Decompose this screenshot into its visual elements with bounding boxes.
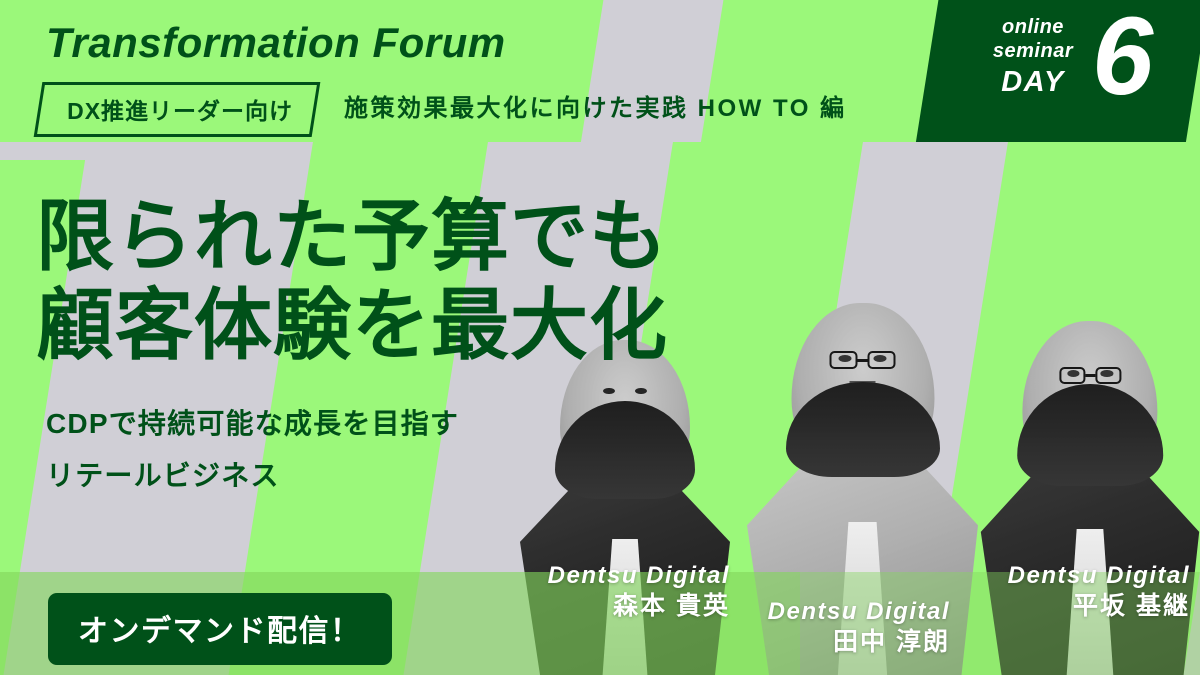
subheadline-line-1: CDPで持続可能な成長を目指す — [46, 398, 459, 450]
day-badge-content: online seminar DAY 6 — [932, 0, 1200, 142]
headline-line-2: 顧客体験を最大化 — [36, 281, 668, 370]
seminar-banner: Transformation Forum DX推進リーダー向け 施策効果最大化に… — [0, 0, 1200, 675]
speaker-name-1: 森本 貴英 — [460, 590, 730, 624]
badge-line-online: online — [974, 16, 1092, 40]
day-badge-lines: online seminar DAY — [974, 16, 1092, 99]
speaker-company-1: Dentsu Digital — [460, 562, 730, 590]
ondemand-button[interactable]: オンデマンド配信！ — [48, 593, 392, 665]
speaker-caption-2: Dentsu Digital 田中 淳朗 — [700, 598, 950, 660]
speaker-caption-1: Dentsu Digital 森本 貴英 — [460, 562, 730, 624]
badge-line-day: DAY — [974, 65, 1092, 99]
page-title: Transformation Forum — [46, 19, 506, 67]
target-audience-tag: DX推進リーダー向け — [34, 82, 321, 137]
speaker-company-2: Dentsu Digital — [700, 598, 950, 626]
speaker-caption-3: Dentsu Digital 平坂 基継 — [930, 562, 1190, 624]
photo-eye-right — [635, 388, 647, 394]
target-audience-label: DX推進リーダー向け — [67, 92, 293, 126]
photo-eye-left — [603, 388, 615, 394]
glasses-icon — [830, 351, 896, 368]
day-number: 6 — [1092, 2, 1153, 112]
speaker-name-2: 田中 淳朗 — [700, 626, 950, 660]
glasses-icon — [1059, 367, 1121, 383]
badge-line-seminar: seminar — [974, 40, 1092, 64]
speaker-company-3: Dentsu Digital — [930, 562, 1190, 590]
speaker-name-3: 平坂 基継 — [930, 590, 1190, 624]
subheadline-line-2: リテールビジネス — [46, 450, 459, 502]
headline: 限られた予算でも 顧客体験を最大化 — [36, 192, 668, 370]
headline-line-1: 限られた予算でも — [36, 192, 668, 281]
header-subtitle: 施策効果最大化に向けた実践 HOW TO 編 — [344, 88, 847, 123]
subheadline: CDPで持続可能な成長を目指す リテールビジネス — [46, 398, 459, 502]
